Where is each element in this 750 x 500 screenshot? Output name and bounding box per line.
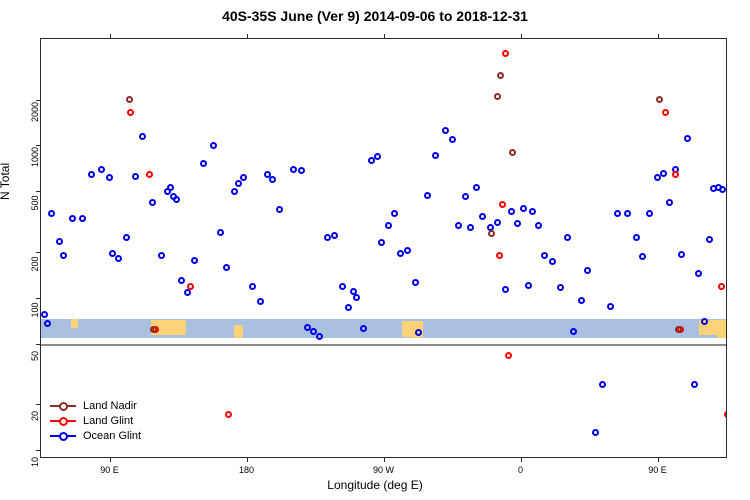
data-point	[656, 96, 663, 103]
data-point	[276, 206, 283, 213]
data-point	[584, 267, 591, 274]
data-point	[316, 333, 323, 340]
x-tick-mark-top	[110, 34, 111, 39]
data-point	[178, 277, 185, 284]
data-point	[529, 208, 536, 215]
data-point	[98, 166, 105, 173]
data-point	[724, 411, 726, 418]
legend-marker-icon	[50, 414, 76, 427]
x-tick-mark-top	[247, 34, 248, 39]
data-point	[257, 298, 264, 305]
data-point	[88, 171, 95, 178]
data-point	[290, 166, 297, 173]
x-tick-mark-top	[384, 34, 385, 39]
data-point	[249, 283, 256, 290]
data-point	[695, 270, 702, 277]
data-point	[442, 127, 449, 134]
data-point	[223, 264, 230, 271]
data-point	[488, 230, 495, 237]
legend-item-land-glint[interactable]: Land Glint	[50, 413, 141, 428]
data-point	[191, 257, 198, 264]
data-point	[449, 136, 456, 143]
x-tick-mark	[658, 457, 659, 462]
x-tick-mark-top	[521, 34, 522, 39]
data-point	[60, 252, 67, 259]
data-point	[505, 352, 512, 359]
data-point	[41, 311, 48, 318]
data-point	[298, 167, 305, 174]
data-point	[44, 320, 51, 327]
legend-label: Ocean Glint	[83, 430, 141, 442]
data-point	[719, 186, 726, 193]
y-tick-label: 1000	[30, 143, 40, 171]
y-axis-title: N Total	[0, 163, 12, 200]
data-point	[231, 188, 238, 195]
data-point	[473, 184, 480, 191]
data-point	[678, 251, 685, 258]
data-point	[235, 180, 242, 187]
data-point	[378, 239, 385, 246]
plot-area	[41, 39, 726, 457]
data-point	[502, 50, 509, 57]
ocean-band	[41, 319, 726, 338]
data-point	[646, 210, 653, 217]
data-point	[432, 152, 439, 159]
data-point	[660, 170, 667, 177]
x-tick-mark	[384, 457, 385, 462]
data-point	[149, 199, 156, 206]
data-point	[497, 72, 504, 79]
legend-marker-icon	[50, 429, 76, 442]
baseline-line	[41, 344, 726, 346]
x-tick-label: 180	[222, 465, 272, 475]
data-point	[360, 325, 367, 332]
data-point	[496, 252, 503, 259]
data-point	[374, 153, 381, 160]
data-point	[115, 255, 122, 262]
data-point	[397, 250, 404, 257]
data-point	[691, 381, 698, 388]
data-point	[508, 208, 515, 215]
legend-label: Land Nadir	[83, 400, 137, 412]
legend-label: Land Glint	[83, 415, 133, 427]
data-point	[269, 176, 276, 183]
data-point	[718, 283, 725, 290]
data-point	[48, 210, 55, 217]
y-tick-label: 2000	[30, 98, 40, 126]
data-point	[684, 135, 691, 142]
data-point	[514, 220, 521, 227]
data-point	[184, 289, 191, 296]
data-point	[345, 304, 352, 311]
y-tick-label: 500	[30, 189, 40, 217]
data-point	[106, 174, 113, 181]
data-point	[520, 205, 527, 212]
data-point	[494, 93, 501, 100]
y-tick-label: 20	[30, 402, 40, 430]
x-tick-mark-top	[658, 34, 659, 39]
data-point	[633, 234, 640, 241]
chart-root: 40S-35S June (Ver 9) 2014-09-06 to 2018-…	[0, 0, 750, 500]
data-point	[541, 252, 548, 259]
data-point	[146, 171, 153, 178]
data-point	[324, 234, 331, 241]
data-point	[666, 199, 673, 206]
data-point	[614, 210, 621, 217]
data-point	[123, 234, 130, 241]
data-point	[455, 222, 462, 229]
data-point	[126, 96, 133, 103]
data-point	[217, 229, 224, 236]
legend-marker-icon	[50, 399, 76, 412]
data-point	[127, 109, 134, 116]
data-point	[599, 381, 606, 388]
y-tick-label: 100	[30, 296, 40, 324]
data-point	[525, 282, 532, 289]
data-point	[462, 193, 469, 200]
land-shape-new-zealand	[234, 325, 243, 338]
data-point	[672, 171, 679, 178]
x-tick-label: 90 E	[85, 465, 135, 475]
data-point	[494, 219, 501, 226]
data-point	[412, 279, 419, 286]
data-point	[240, 174, 247, 181]
data-point	[557, 284, 564, 291]
data-point	[79, 215, 86, 222]
data-point	[499, 201, 506, 208]
x-tick-label: 90 E	[633, 465, 683, 475]
data-point	[339, 283, 346, 290]
x-tick-mark	[521, 457, 522, 462]
data-point	[592, 429, 599, 436]
data-point	[391, 210, 398, 217]
data-point	[535, 222, 542, 229]
data-point	[132, 173, 139, 180]
data-point	[404, 247, 411, 254]
data-point	[353, 294, 360, 301]
data-point	[150, 326, 157, 333]
x-tick-label: 90 W	[359, 465, 409, 475]
chart-legend: Land NadirLand GlintOcean Glint	[50, 398, 141, 443]
data-point	[502, 286, 509, 293]
data-point	[385, 222, 392, 229]
data-point	[509, 149, 516, 156]
data-point	[200, 160, 207, 167]
data-point	[331, 232, 338, 239]
x-tick-label: 0	[496, 465, 546, 475]
data-point	[578, 297, 585, 304]
x-tick-mark	[247, 457, 248, 462]
data-point	[549, 258, 556, 265]
data-point	[225, 411, 232, 418]
data-point	[173, 196, 180, 203]
data-point	[56, 238, 63, 245]
chart-title: 40S-35S June (Ver 9) 2014-09-06 to 2018-…	[0, 8, 750, 24]
land-shape-africa-tip	[71, 319, 77, 328]
data-point	[701, 318, 708, 325]
data-point	[662, 109, 669, 116]
legend-item-ocean-glint[interactable]: Ocean Glint	[50, 428, 141, 443]
data-point	[639, 253, 646, 260]
y-tick-label: 10	[30, 448, 40, 476]
data-point	[158, 252, 165, 259]
legend-item-land-nadir[interactable]: Land Nadir	[50, 398, 141, 413]
data-point	[424, 192, 431, 199]
x-axis-title: Longitude (deg E)	[0, 478, 750, 492]
data-point	[706, 236, 713, 243]
data-point	[139, 133, 146, 140]
data-point	[624, 210, 631, 217]
data-point	[467, 224, 474, 231]
data-point	[187, 283, 194, 290]
data-point	[607, 303, 614, 310]
data-point	[210, 142, 217, 149]
data-point	[167, 184, 174, 191]
y-tick-label: 200	[30, 250, 40, 278]
x-tick-mark	[110, 457, 111, 462]
y-tick-label: 50	[30, 342, 40, 370]
data-point	[564, 234, 571, 241]
land-shape-new-zealand-wrap	[717, 325, 726, 338]
data-point	[69, 215, 76, 222]
data-point	[479, 213, 486, 220]
